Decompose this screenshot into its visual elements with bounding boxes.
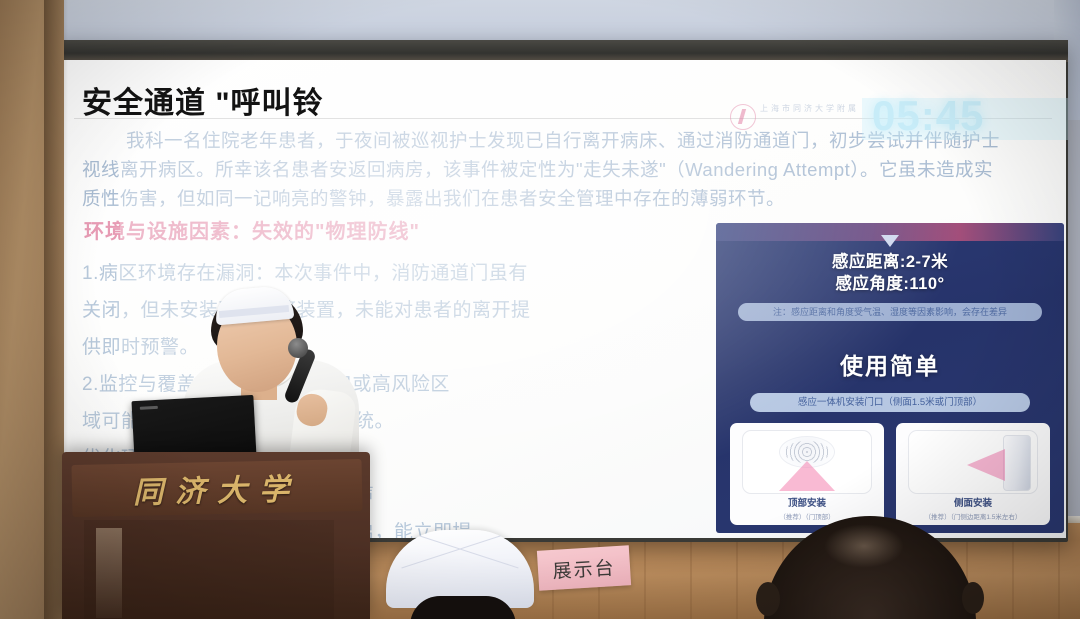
sensing-specs: 感应距离:2-7米 感应角度:110° xyxy=(716,251,1064,295)
countdown-timer: 05:45 xyxy=(872,92,984,140)
sensing-distance: 感应距离:2-7米 xyxy=(716,251,1064,273)
photo-scene: 安全通道 "呼叫铃 我科一名住院老年患者，于夜间被巡视护士发现已自行离开病床、通… xyxy=(0,0,1080,619)
logo-line-1: 上海市同济大学附属 xyxy=(760,102,859,115)
product-info-panel: 感应距离:2-7米 感应角度:110° 注：感应距离和角度受气温、湿度等因素影响… xyxy=(716,223,1064,533)
ear-right xyxy=(962,582,984,614)
side-install-illustration xyxy=(908,430,1038,494)
install-note: 感应一体机安装门口（侧面1.5米或门顶部） xyxy=(750,393,1030,412)
body-line: 供即时预警。 xyxy=(82,329,662,366)
slide-section-heading: 环境与设施因素：失效的"物理防线" xyxy=(84,215,420,244)
body-line: 2.监控与覆盖不足：病区出入口或高风险区 xyxy=(82,366,662,403)
sensor-beam-icon xyxy=(779,461,835,491)
top-install-illustration xyxy=(742,430,872,494)
install-card-side: 侧面安装 （推荐）（门侧边距离1.5米左右） xyxy=(896,423,1050,525)
foreground-attendee-hair xyxy=(410,596,516,619)
projector-screen-top-bar xyxy=(56,40,1068,62)
podium-university-name: 同济大学 xyxy=(84,463,351,513)
install-card-label: 侧面安装 xyxy=(896,495,1050,509)
body-line: 1.病区环境存在漏洞：本次事件中，消防通道门虽有 xyxy=(82,255,662,292)
wall-sensor-icon xyxy=(1003,435,1031,491)
slide-title: 安全通道 "呼叫铃 xyxy=(82,78,324,122)
arrow-down-icon xyxy=(881,235,899,247)
install-card-top: 顶部安装 （推荐）（门顶部） xyxy=(730,423,884,525)
install-cards: 顶部安装 （推荐）（门顶部） 侧面安装 （推荐）（门侧边距离1.5米左右） xyxy=(730,423,1050,525)
body-line: 关闭，但未安装延时报警装置，未能对患者的离开提 xyxy=(82,292,662,329)
head-highlight xyxy=(824,524,904,568)
sensing-angle: 感应角度:110° xyxy=(716,273,1064,295)
ear-left xyxy=(756,582,780,616)
display-table-sign-text: 展示台 xyxy=(537,545,631,591)
laptop-logo xyxy=(140,406,158,410)
display-table-sign: 展示台 xyxy=(537,545,631,591)
sensing-note: 注：感应距离和角度受气温、湿度等因素影响，会存在差异 xyxy=(738,303,1042,321)
use-simple-heading: 使用简单 xyxy=(716,347,1064,381)
install-card-sub: （推荐）（门侧边距离1.5米左右） xyxy=(896,511,1050,521)
sensor-beam-icon xyxy=(967,449,1005,481)
logo-mark-icon xyxy=(730,104,756,130)
podium-highlight xyxy=(96,528,122,618)
install-card-label: 顶部安装 xyxy=(730,495,884,509)
